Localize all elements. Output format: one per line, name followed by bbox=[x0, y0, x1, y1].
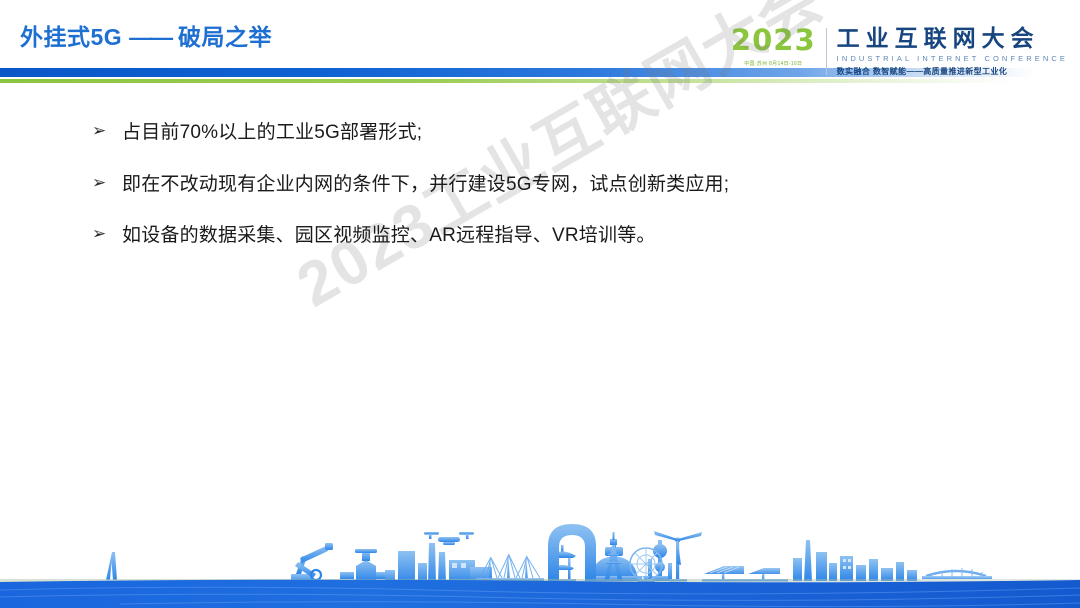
header-rule-green bbox=[0, 79, 1080, 83]
logo-text-block: 工业互联网大会 INDUSTRIAL INTERNET CONFERENCE 数… bbox=[837, 26, 1068, 77]
footer-graphic bbox=[0, 518, 1080, 608]
pearl-tower-icon bbox=[648, 540, 672, 581]
list-item-text: 如设备的数据采集、园区视频监控、AR远程指导、VR培训等。 bbox=[122, 223, 656, 249]
city-skyline-icon bbox=[793, 540, 917, 581]
list-item-text: 即在不改动现有企业内网的条件下，并行建设5G专网，试点创新类应用; bbox=[122, 172, 729, 198]
page-title-main: 外挂式5G bbox=[20, 24, 122, 50]
slide-body: ➢ 占目前70%以上的工业5G部署形式; ➢ 即在不改动现有企业内网的条件下，并… bbox=[0, 120, 1080, 275]
page-title-sub: 破局之举 bbox=[178, 24, 272, 50]
logo-slogan: 数实融合 数智赋能——高质量推进新型工业化 bbox=[837, 66, 1068, 77]
pipeline-valve-icon bbox=[340, 549, 390, 581]
logo-name-en: INDUSTRIAL INTERNET CONFERENCE bbox=[837, 54, 1068, 63]
sea-bridge-icon bbox=[922, 568, 992, 579]
logo-year-block: 2023 中国·苏州 8月14日-16日 bbox=[731, 26, 826, 67]
conference-logo: 2023 中国·苏州 8月14日-16日 工业互联网大会 INDUSTRIAL … bbox=[731, 26, 1068, 77]
robot-arm-icon bbox=[291, 543, 333, 583]
slide-header: 外挂式5G —— 破局之举 2023 中国·苏州 8月14日-16日 工业互联网… bbox=[0, 0, 1080, 96]
eiffel-tower-icon bbox=[106, 552, 117, 580]
page-title: 外挂式5G —— 破局之举 bbox=[20, 18, 272, 52]
logo-name-cn: 工业互联网大会 bbox=[837, 27, 1068, 50]
slide: 外挂式5G —— 破局之举 2023 中国·苏州 8月14日-16日 工业互联网… bbox=[0, 0, 1080, 608]
list-item-text: 占目前70%以上的工业5G部署形式; bbox=[122, 120, 422, 146]
slide-footer bbox=[0, 518, 1080, 608]
arrow-bullet-icon: ➢ bbox=[92, 120, 122, 142]
list-item: ➢ 占目前70%以上的工业5G部署形式; bbox=[0, 120, 1080, 146]
factory-icon bbox=[385, 543, 492, 583]
page-title-dash: —— bbox=[129, 24, 171, 50]
logo-divider bbox=[826, 28, 827, 75]
cable-bridge-icon bbox=[476, 553, 544, 581]
list-item: ➢ 如设备的数据采集、园区视频监控、AR远程指导、VR培训等。 bbox=[0, 223, 1080, 249]
arrow-bullet-icon: ➢ bbox=[92, 223, 122, 245]
arrow-bullet-icon: ➢ bbox=[92, 172, 122, 194]
logo-date: 中国·苏州 8月14日-16日 bbox=[731, 60, 816, 67]
logo-year: 2023 bbox=[731, 26, 816, 55]
list-item: ➢ 即在不改动现有企业内网的条件下，并行建设5G专网，试点创新类应用; bbox=[0, 172, 1080, 198]
